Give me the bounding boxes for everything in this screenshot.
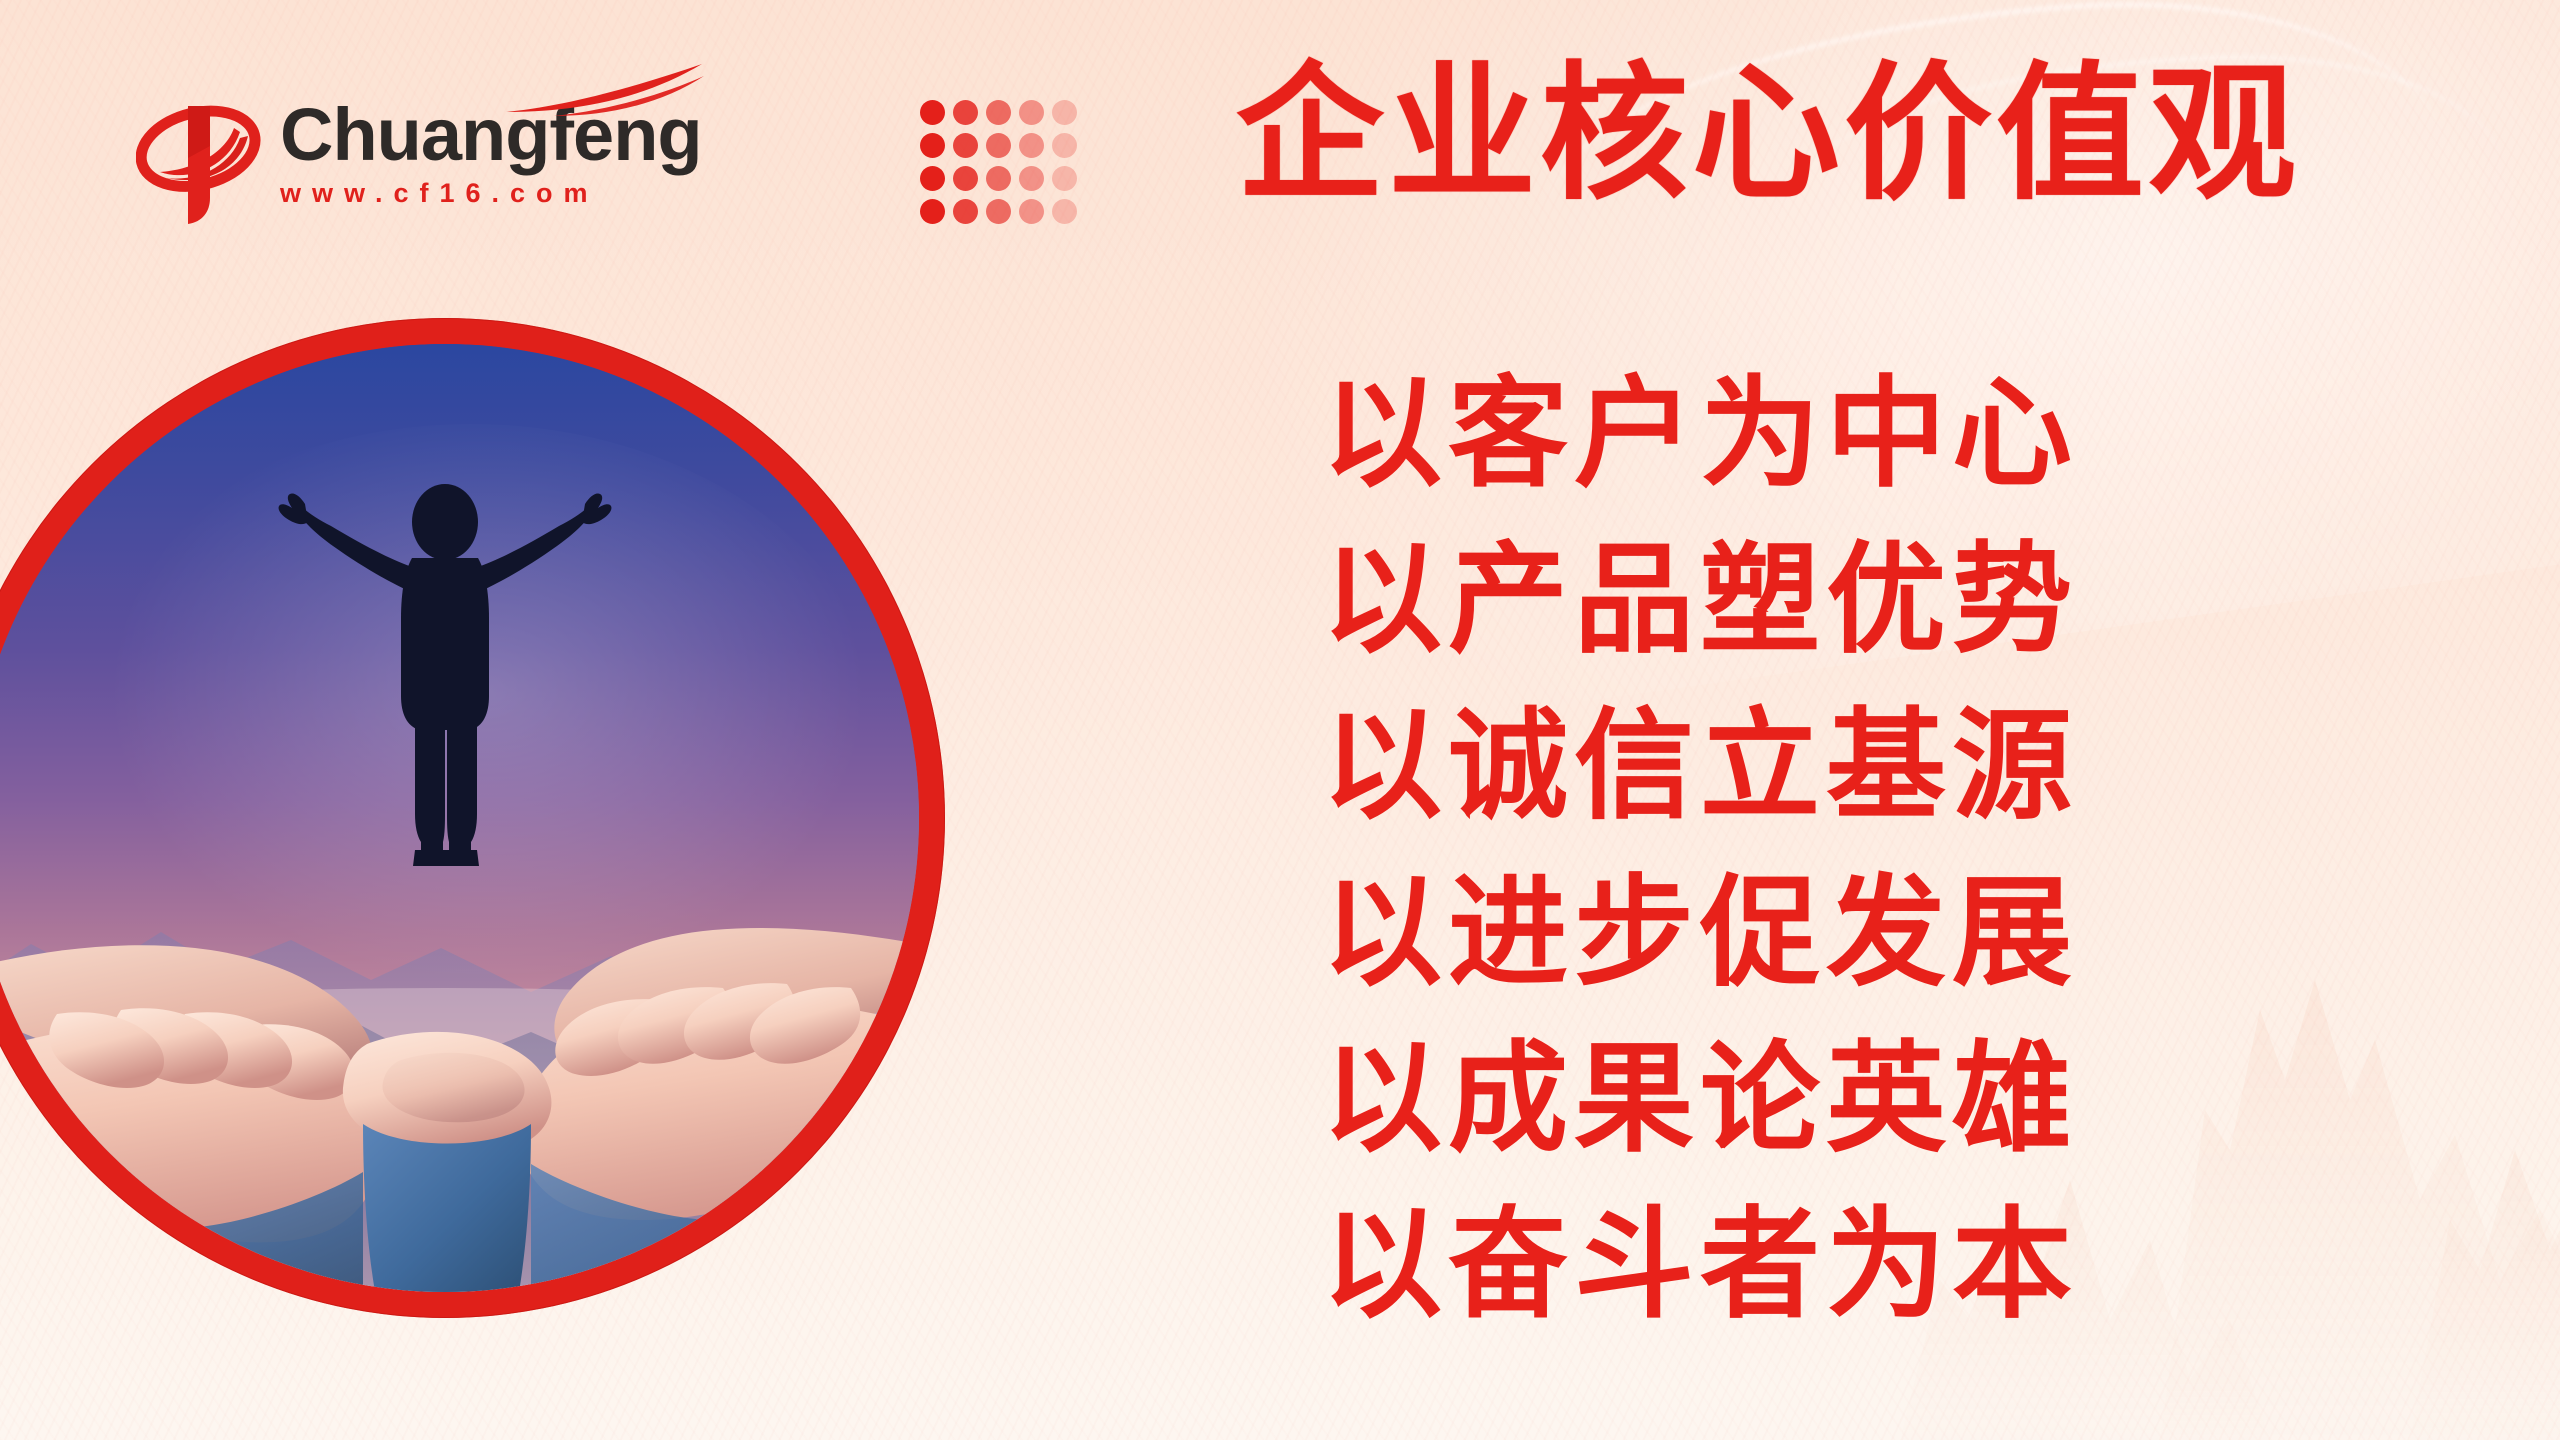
- dot: [986, 199, 1011, 224]
- dot: [953, 133, 978, 158]
- dot: [1052, 100, 1077, 125]
- dot: [920, 100, 945, 125]
- brand-url[interactable]: www.cf16.com: [280, 178, 702, 209]
- value-line: 以进步促发展: [1170, 851, 2230, 1017]
- poster-canvas: Chuangfeng www.cf16.com: [0, 0, 2560, 1440]
- core-values-list: 以客户为中心 以产品塑优势 以诚信立基源 以进步促发展 以成果论英雄 以奋斗者为…: [1170, 352, 2230, 1349]
- dot: [920, 199, 945, 224]
- photo-scene-illustration: [0, 344, 919, 1292]
- dot: [953, 100, 978, 125]
- chuangfeng-logo-mark-icon: [136, 86, 266, 226]
- dot: [953, 199, 978, 224]
- dot: [920, 133, 945, 158]
- value-line: 以奋斗者为本: [1170, 1183, 2230, 1349]
- photo-ring-border: [0, 318, 945, 1318]
- dot: [1052, 133, 1077, 158]
- dot-grid-decoration: [920, 100, 1077, 224]
- dot: [1019, 133, 1044, 158]
- dot: [986, 133, 1011, 158]
- dot: [1019, 199, 1044, 224]
- value-line: 以诚信立基源: [1170, 684, 2230, 850]
- brand-text-column: Chuangfeng www.cf16.com: [280, 86, 702, 209]
- poster-header: Chuangfeng www.cf16.com: [0, 0, 2560, 270]
- value-line: 以成果论英雄: [1170, 1017, 2230, 1183]
- dot: [953, 166, 978, 191]
- dot: [1052, 166, 1077, 191]
- dot: [1052, 199, 1077, 224]
- teamwork-support-photo: [0, 344, 919, 1292]
- dot: [1019, 166, 1044, 191]
- dot: [1019, 100, 1044, 125]
- brand-wordmark: Chuangfeng: [280, 100, 702, 170]
- value-line: 以客户为中心: [1170, 352, 2230, 518]
- brand-logo[interactable]: Chuangfeng www.cf16.com: [136, 86, 702, 226]
- dot: [986, 166, 1011, 191]
- dot: [986, 100, 1011, 125]
- value-line: 以产品塑优势: [1170, 518, 2230, 684]
- dot: [920, 166, 945, 191]
- page-title: 企业核心价值观: [1236, 58, 2300, 212]
